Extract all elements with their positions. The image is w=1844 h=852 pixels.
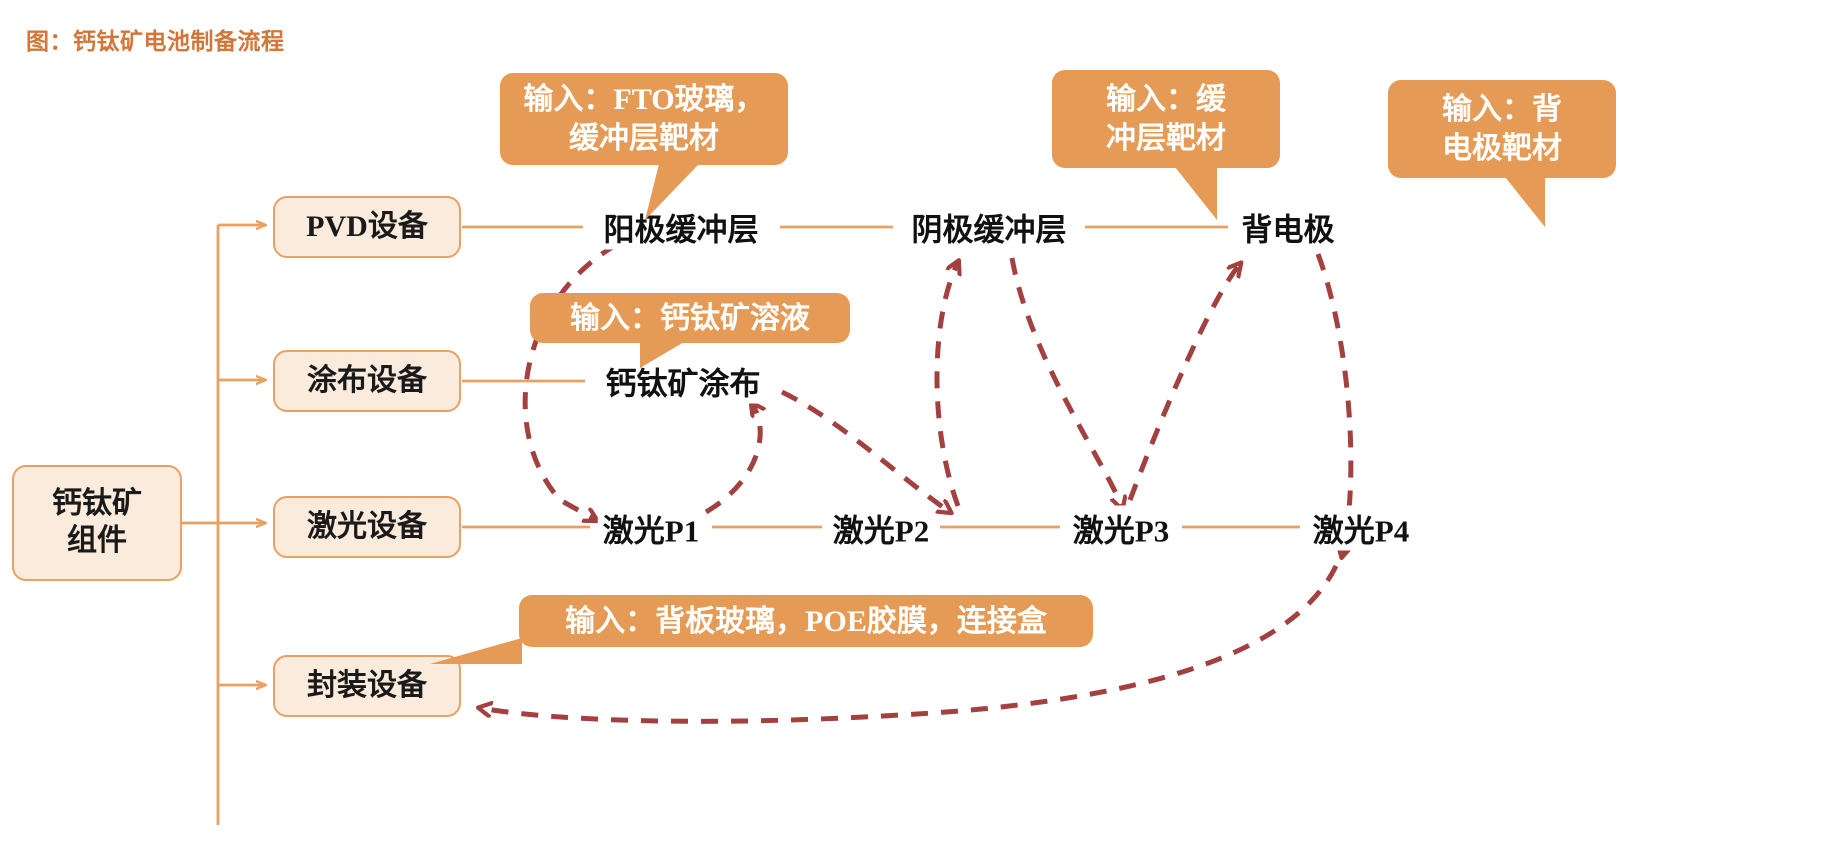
callout-1-line1: 输入：FTO玻璃， bbox=[523, 80, 764, 119]
root-branch-lines bbox=[181, 225, 265, 825]
arrow-cathode-to-p3 bbox=[1012, 258, 1122, 508]
callout-5-line1: 输入：背板玻璃，POE胶膜，连接盒 bbox=[565, 602, 1047, 641]
callout-4-line1: 输入：钙钛矿溶液 bbox=[570, 299, 810, 338]
root-label-line2: 组件 bbox=[67, 523, 127, 560]
node-equipment-pvd[interactable]: PVD设备 bbox=[273, 196, 461, 258]
callout-pvd-input[interactable]: 输入：FTO玻璃， 缓冲层靶材 bbox=[500, 73, 788, 165]
arrow-p1-to-coating bbox=[706, 404, 760, 512]
step-laser-p2[interactable]: 激光P2 bbox=[828, 506, 934, 551]
node-equipment-encapsulation[interactable]: 封装设备 bbox=[273, 655, 461, 717]
node-root-module[interactable]: 钙钛矿 组件 bbox=[12, 465, 182, 581]
callout-cathode-buffer-input[interactable]: 输入：缓 冲层靶材 bbox=[1052, 70, 1280, 168]
diagram-canvas: 图：钙钛矿电池制备流程 bbox=[0, 0, 1844, 852]
callout-2-line1: 输入：缓 bbox=[1106, 80, 1226, 119]
step-laser-p3[interactable]: 激光P3 bbox=[1068, 506, 1174, 551]
stage-rails bbox=[462, 227, 1300, 527]
page-title: 图：钙钛矿电池制备流程 bbox=[26, 22, 285, 56]
callout-2-tail bbox=[1175, 167, 1217, 220]
step-cathode-buffer[interactable]: 阴极缓冲层 bbox=[907, 205, 1072, 250]
callout-3-line1: 输入：背 bbox=[1442, 90, 1562, 129]
root-label-line1: 钙钛矿 bbox=[52, 486, 142, 523]
callout-1-line2: 缓冲层靶材 bbox=[569, 119, 719, 158]
step-laser-p4[interactable]: 激光P4 bbox=[1308, 506, 1414, 551]
arrow-coating-to-p2 bbox=[782, 392, 950, 512]
node-equipment-laser[interactable]: 激光设备 bbox=[273, 496, 461, 558]
step-laser-p1[interactable]: 激光P1 bbox=[598, 506, 704, 551]
callout-3-tail bbox=[1505, 177, 1545, 227]
arrow-p2-to-cathode bbox=[937, 262, 958, 506]
callout-3-line2: 电极靶材 bbox=[1442, 129, 1562, 168]
callout-back-electrode-input[interactable]: 输入：背 电极靶材 bbox=[1388, 80, 1616, 178]
callout-encapsulation-input[interactable]: 输入：背板玻璃，POE胶膜，连接盒 bbox=[519, 595, 1093, 647]
step-back-electrode[interactable]: 背电极 bbox=[1237, 205, 1340, 250]
callout-2-line2: 冲层靶材 bbox=[1106, 119, 1226, 158]
callout-4-tail bbox=[640, 342, 684, 368]
arrow-p3-to-backelectrode bbox=[1130, 264, 1240, 500]
callout-coating-input[interactable]: 输入：钙钛矿溶液 bbox=[530, 293, 850, 343]
node-equipment-coating[interactable]: 涂布设备 bbox=[273, 350, 461, 412]
